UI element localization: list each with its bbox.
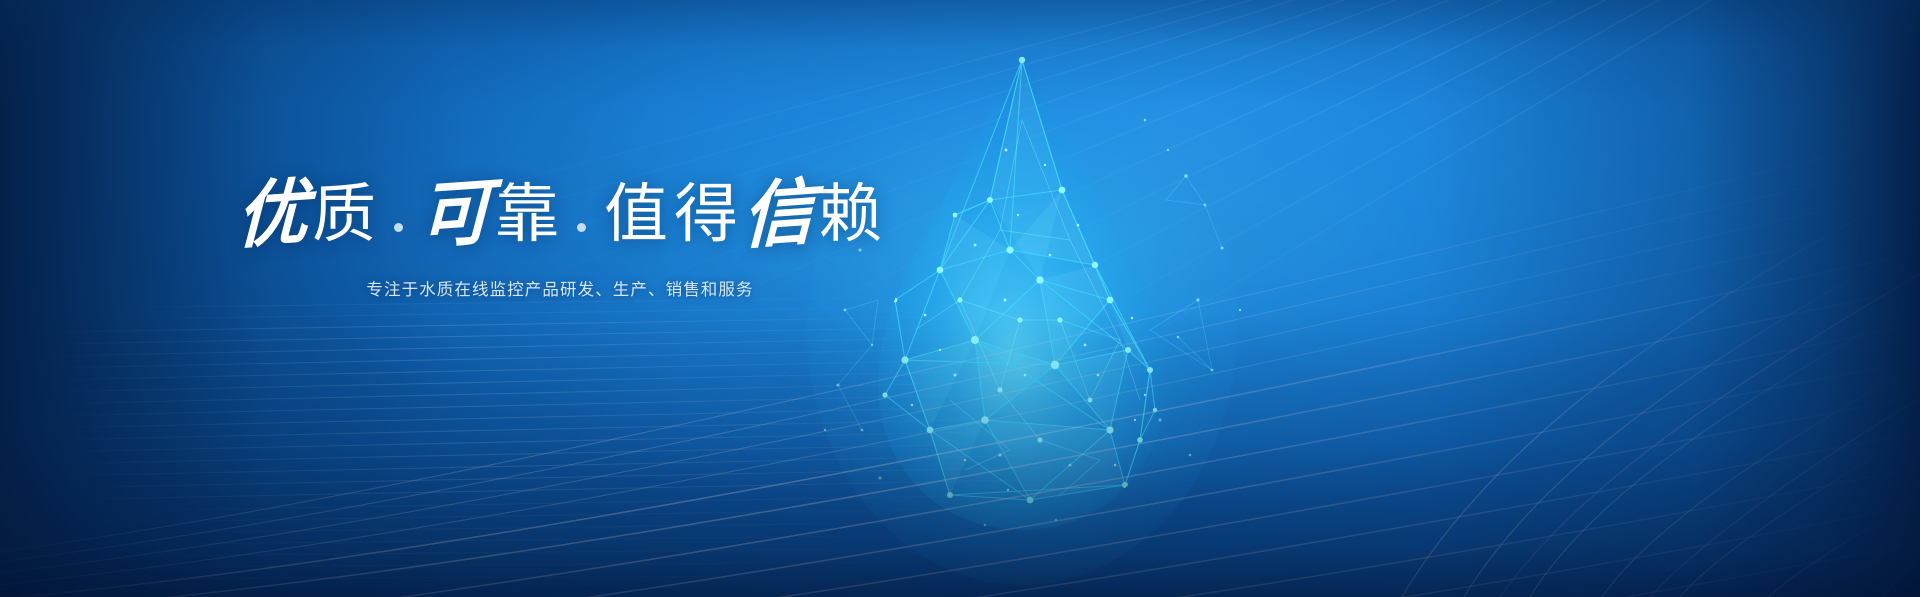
headline-separator-dot bbox=[577, 223, 586, 232]
hero-subtitle: 专注于水质在线监控产品研发、生产、销售和服务 bbox=[0, 276, 1120, 300]
headline-char-7: 得 bbox=[674, 182, 738, 246]
headline-char-0: 优 bbox=[235, 175, 308, 252]
headline-char-4: 靠 bbox=[495, 182, 559, 246]
headline-separator-dot bbox=[394, 223, 403, 232]
headline-char-6: 值 bbox=[604, 182, 668, 246]
headline-char-3: 可 bbox=[418, 175, 491, 252]
hero-banner: 优质可靠值得信赖 专注于水质在线监控产品研发、生产、销售和服务 bbox=[0, 0, 1920, 597]
headline-char-8: 信 bbox=[741, 175, 814, 252]
headline-char-1: 质 bbox=[312, 182, 376, 246]
hero-copy-block: 优质可靠值得信赖 专注于水质在线监控产品研发、生产、销售和服务 bbox=[0, 178, 1120, 300]
hero-headline: 优质可靠值得信赖 bbox=[0, 178, 1120, 250]
headline-char-9: 赖 bbox=[818, 182, 882, 246]
